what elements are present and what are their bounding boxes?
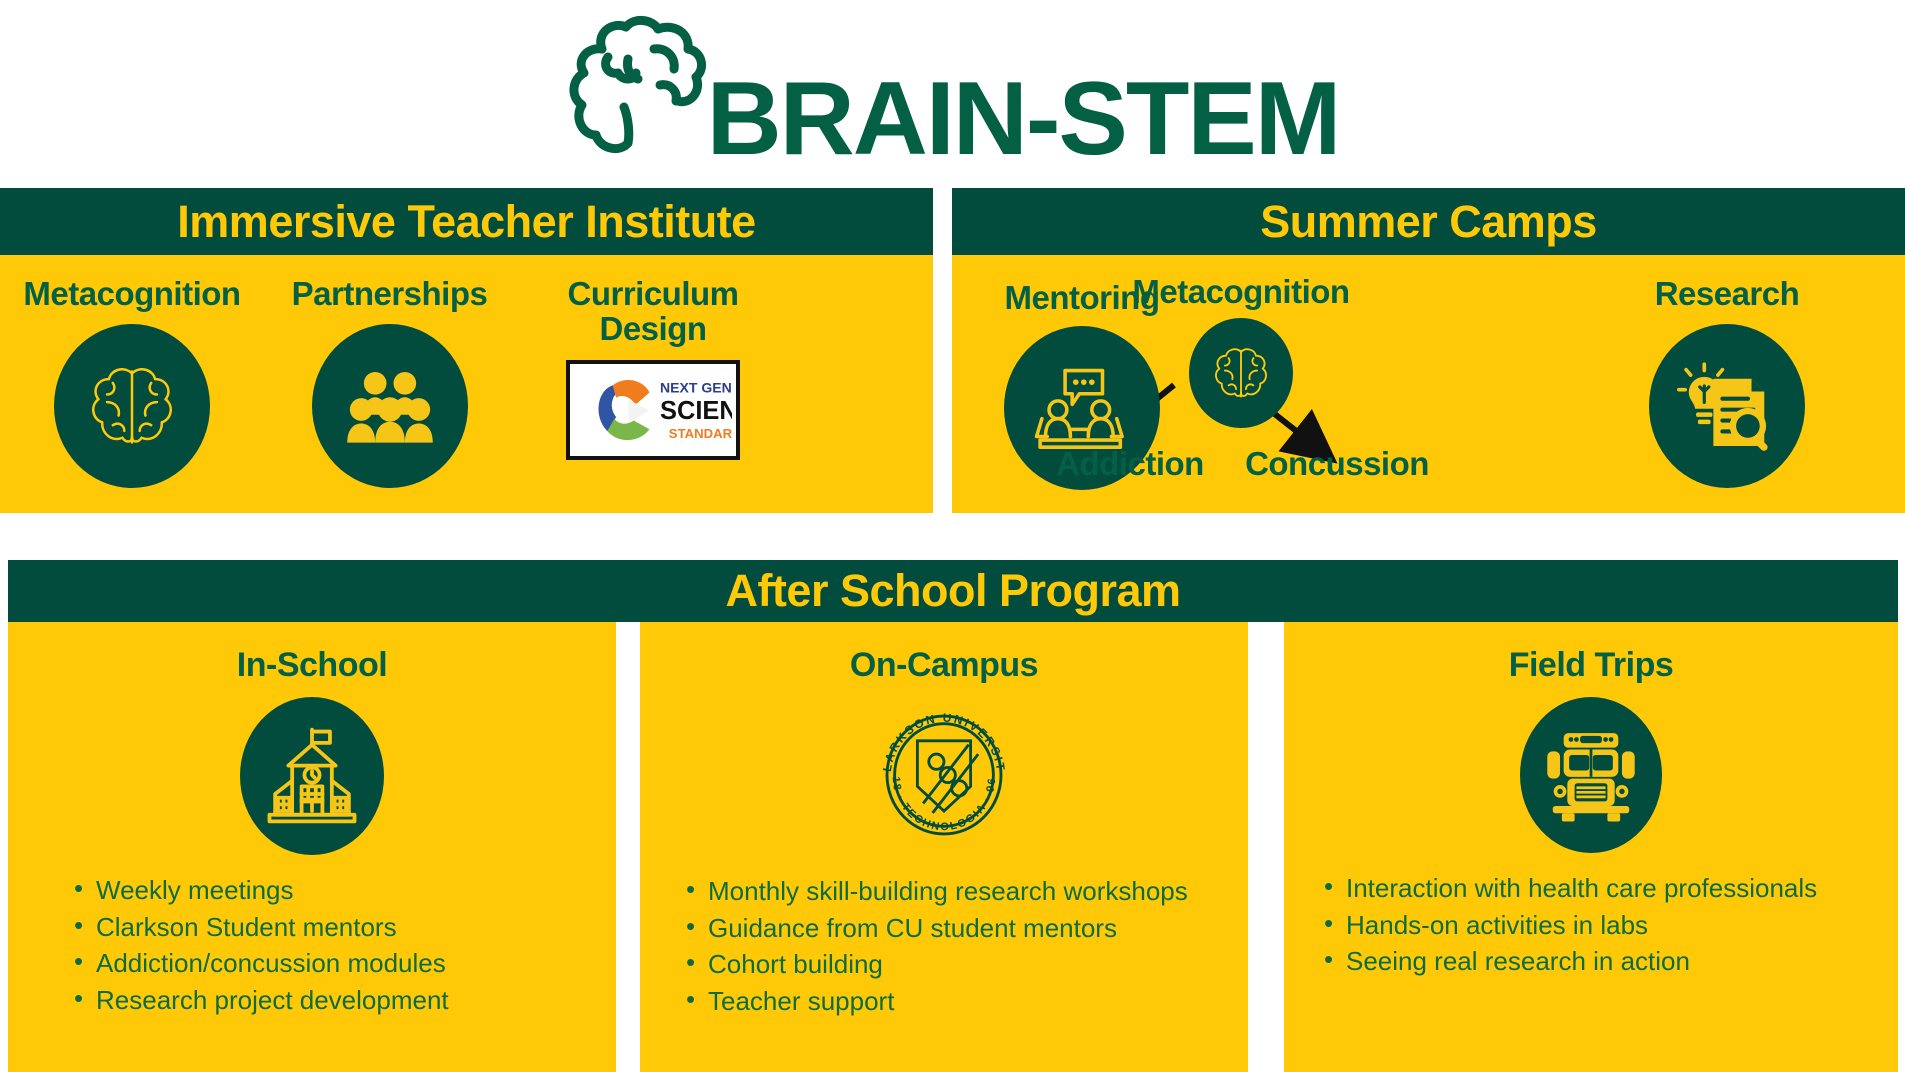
svg-text:18 · TECHNOLOGIA · 96: 18 · TECHNOLOGIA · 96 (890, 776, 999, 833)
ngss-logo-icon: NEXT GENERATION SCIENCE STANDARDS (566, 360, 740, 460)
school-building-icon (240, 697, 384, 855)
svg-text:SCIENCE: SCIENCE (660, 397, 732, 425)
list-item: Hands-on activities in labs (1320, 908, 1898, 943)
school-bus-icon (1520, 697, 1662, 853)
iti-item-partnerships[interactable]: Partnerships (272, 277, 507, 488)
panel-header-after-school-program: After School Program (8, 560, 1898, 622)
asp-column-title: Field Trips (1284, 646, 1898, 685)
panel-immersive-teacher-institute: Immersive Teacher Institute Metacognitio… (0, 188, 933, 513)
svg-text:STANDARDS: STANDARDS (669, 426, 732, 441)
asp-icon-wrap (8, 697, 616, 855)
svg-text:NEXT GENERATION: NEXT GENERATION (660, 380, 732, 396)
asp-column-title: In-School (8, 646, 616, 685)
iti-item-label: Curriculum Design (540, 277, 766, 346)
sc-branch-concussion[interactable]: Concussion (1192, 445, 1482, 483)
asp-column-list: Monthly skill-building research workshop… (682, 874, 1248, 1018)
panel-header-summer-camps: Summer Camps (952, 188, 1905, 255)
clarkson-university-seal-icon: CLARKSON UNIVERSITY 18 · TECHNOLOGIA · 9… (868, 699, 1020, 851)
brain-icon (54, 324, 210, 488)
asp-column-on-campus: On-Campus CLARKSON UNIV (640, 622, 1248, 1072)
list-item: Teacher support (682, 984, 1248, 1019)
seal-bottom-text: 18 · TECHNOLOGIA · 96 (890, 776, 999, 833)
infographic-canvas: BRAIN-STEM Immersive Teacher Institute M… (0, 0, 1905, 1072)
panel-header-immersive-teacher-institute: Immersive Teacher Institute (0, 188, 933, 255)
sc-item-label: Research (1607, 277, 1847, 312)
list-item: Guidance from CU student mentors (682, 911, 1248, 946)
lightbulb-document-magnifier-icon (1649, 324, 1805, 488)
asp-column-list: Interaction with health care professiona… (1320, 871, 1898, 979)
list-item: Monthly skill-building research workshop… (682, 874, 1248, 909)
list-item: Interaction with health care professiona… (1320, 871, 1898, 906)
asp-column-list: Weekly meetings Clarkson Student mentors… (70, 873, 616, 1017)
panel-summer-camps: Summer Camps Mentoring (952, 188, 1905, 513)
brand-title: BRAIN-STEM (707, 70, 1340, 169)
list-item: Addiction/concussion modules (70, 946, 616, 981)
sc-item-label: Metacognition (1114, 275, 1368, 310)
iti-item-metacognition[interactable]: Metacognition (22, 277, 242, 488)
panel-body-immersive-teacher-institute: Metacognition (0, 255, 933, 513)
asp-column-title: On-Campus (640, 646, 1248, 685)
list-item: Weekly meetings (70, 873, 616, 908)
list-item: Research project development (70, 983, 616, 1018)
iti-item-label: Metacognition (22, 277, 242, 312)
list-item: Seeing real research in action (1320, 944, 1898, 979)
sc-item-research[interactable]: Research (1607, 277, 1847, 488)
asp-icon-wrap: CLARKSON UNIVERSITY 18 · TECHNOLOGIA · 9… (640, 699, 1248, 856)
panel-body-summer-camps: Mentoring (952, 255, 1905, 513)
group-of-people-icon (312, 324, 468, 488)
list-item: Clarkson Student mentors (70, 910, 616, 945)
asp-column-field-trips: Field Trips (1284, 622, 1898, 1072)
iti-item-curriculum-design[interactable]: Curriculum Design NEXT GENERATION SCIENC… (540, 277, 766, 460)
list-item: Cohort building (682, 947, 1248, 982)
brand-header: BRAIN-STEM (0, 6, 1905, 176)
iti-item-label: Partnerships (272, 277, 507, 312)
brain-icon (1189, 318, 1293, 428)
sc-item-metacognition[interactable]: Metacognition (1114, 275, 1368, 428)
asp-column-in-school: In-School (8, 622, 616, 1072)
asp-icon-wrap (1284, 697, 1898, 853)
